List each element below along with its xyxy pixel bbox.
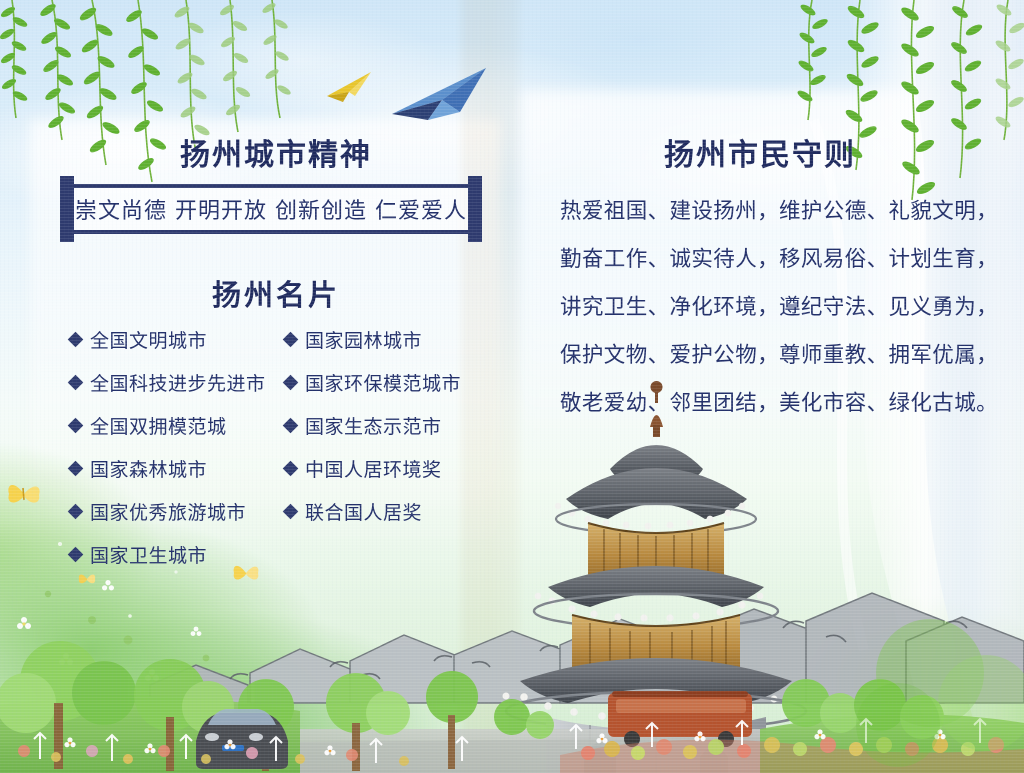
paper-plane-blue-icon: [388, 62, 493, 124]
diamond-bullet-icon: [68, 332, 84, 348]
section-title-cards: 扬州名片: [66, 272, 486, 314]
section-title-rules: 扬州市民守则: [560, 130, 960, 174]
slogan-text: 崇文尚德 开明开放 创新创造 仁爱爱人: [60, 184, 482, 234]
city-illustration-scene: [0, 373, 1024, 773]
list-item-label: 全国文明城市: [90, 326, 207, 353]
rules-line: 热爱祖国、建设扬州，维护公德、礼貌文明，: [560, 188, 972, 236]
page-title-spirit: 扬州城市精神: [66, 130, 486, 174]
rules-line: 勤奋工作、诚实待人，移风易俗、计划生育，: [560, 236, 972, 284]
list-item-label: 国家园林城市: [305, 326, 422, 353]
diamond-bullet-icon: [283, 332, 299, 348]
list-item: 全国文明城市: [70, 318, 275, 361]
poster-canvas: 扬州城市精神 崇文尚德 开明开放 创新创造 仁爱爱人 扬州名片 全国文明城市 国…: [0, 0, 1024, 773]
paper-plane-yellow-icon: [325, 68, 375, 108]
rules-line: 讲究卫生、净化环境，遵纪守法、见义勇为，: [560, 284, 972, 332]
list-item: 国家园林城市: [285, 318, 490, 361]
slogan-banner: 崇文尚德 开明开放 创新创造 仁爱爱人: [60, 184, 482, 234]
